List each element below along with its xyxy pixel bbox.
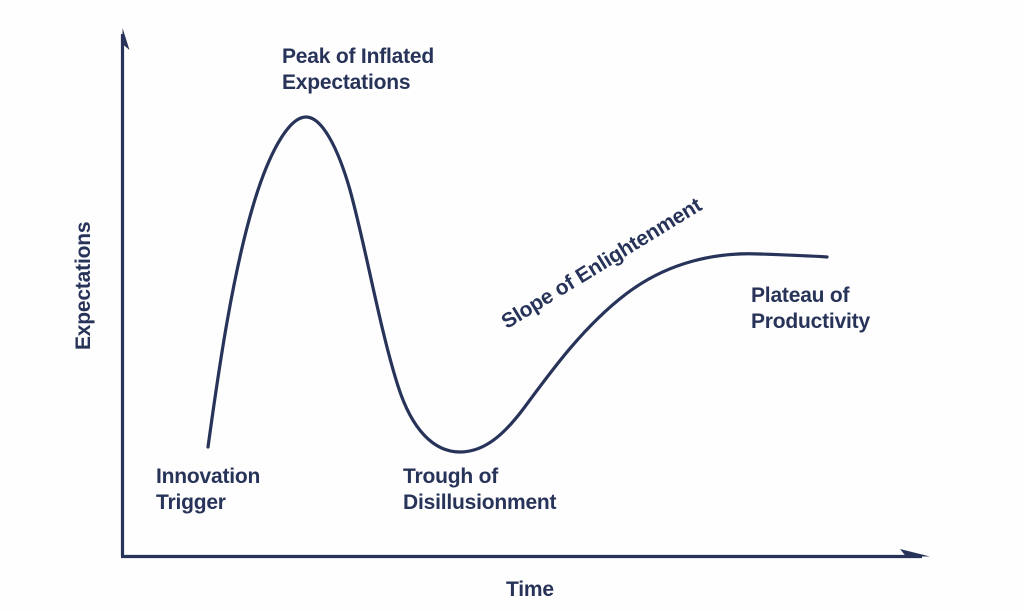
label-trough-of-disillusionment: Trough of Disillusionment (403, 464, 556, 516)
hype-cycle-diagram: Peak of Inflated Expectations Innovation… (0, 0, 1024, 611)
label-peak-of-inflated-expectations: Peak of Inflated Expectations (282, 44, 434, 96)
label-plateau-of-productivity: Plateau of Productivity (751, 283, 870, 335)
label-innovation-trigger: Innovation Trigger (156, 464, 260, 516)
x-axis-title: Time (506, 577, 554, 603)
y-axis-title: Expectations (71, 222, 97, 350)
hype-cycle-curve (208, 117, 827, 452)
